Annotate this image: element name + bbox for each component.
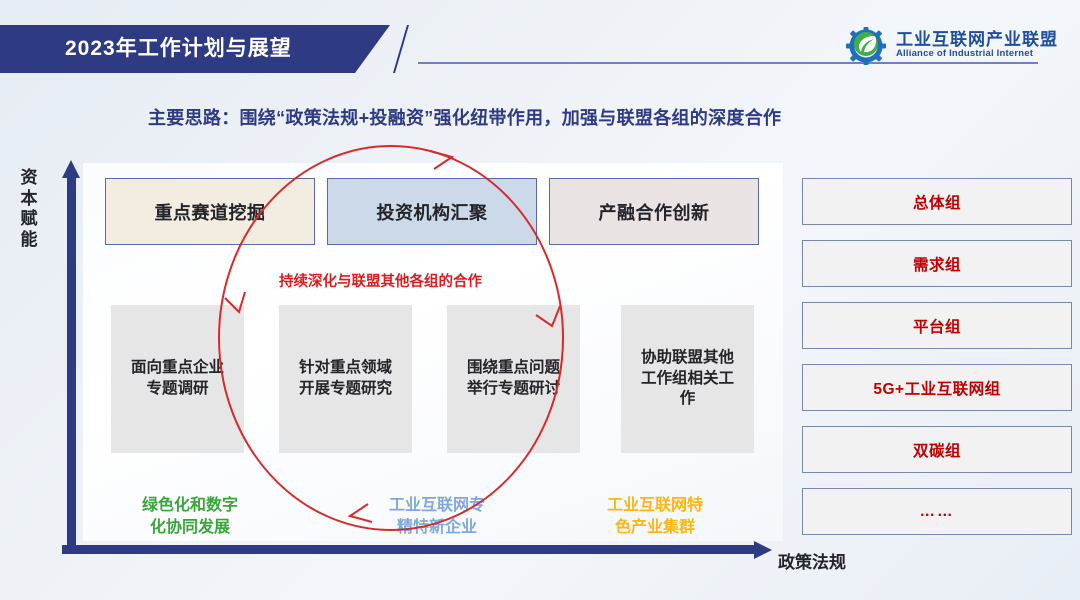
bottom-label-1-line2: 化协同发展	[110, 517, 270, 539]
bottom-label-2-line2: 精特新企业	[357, 517, 517, 539]
work-group-list: 总体组 需求组 平台组 5G+工业互联网组 双碳组 ……	[802, 178, 1070, 540]
y-axis-shaft	[67, 174, 76, 550]
work-group-item-6[interactable]: ……	[802, 488, 1072, 535]
gray-box-3-line1: 围绕重点问题	[467, 358, 560, 379]
x-axis-shaft	[62, 545, 754, 554]
gray-box-1[interactable]: 面向重点企业 专题调研	[111, 305, 244, 453]
bottom-label-1: 绿色化和数字 化协同发展	[110, 495, 270, 538]
bottom-label-2-line1: 工业互联网专	[357, 495, 517, 517]
top-box-2[interactable]: 投资机构汇聚	[327, 178, 537, 245]
gray-box-3[interactable]: 围绕重点问题 举行专题研讨	[447, 305, 580, 453]
bottom-label-2: 工业互联网专 精特新企业	[357, 495, 517, 538]
logo-title-cn: 工业互联网产业联盟	[896, 31, 1058, 49]
bottom-label-1-line1: 绿色化和数字	[110, 495, 270, 517]
work-group-item-3[interactable]: 平台组	[802, 302, 1072, 349]
gray-box-2-line2: 开展专题研究	[299, 379, 392, 400]
gray-box-3-line2: 举行专题研讨	[467, 379, 560, 400]
work-group-item-1[interactable]: 总体组	[802, 178, 1072, 225]
bottom-label-3: 工业互联网特 色产业集群	[575, 495, 735, 538]
gray-box-2[interactable]: 针对重点领域 开展专题研究	[279, 305, 412, 453]
bottom-label-3-line1: 工业互联网特	[575, 495, 735, 517]
slide-root: 2023年工作计划与展望	[0, 0, 1080, 600]
work-group-item-5-label: 双碳组	[913, 439, 961, 461]
logo-text: 工业互联网产业联盟 Alliance of Industrial Interne…	[896, 31, 1058, 59]
work-group-item-3-label: 平台组	[913, 315, 961, 337]
header-slash-icon	[393, 25, 409, 73]
logo-title-en: Alliance of Industrial Internet	[896, 49, 1058, 59]
y-axis-label: 资本赋能	[16, 168, 42, 251]
work-group-item-4-label: 5G+工业互联网组	[873, 377, 1000, 399]
logo: 工业互联网产业联盟 Alliance of Industrial Interne…	[844, 22, 1058, 68]
top-box-1-label: 重点赛道挖掘	[155, 199, 266, 225]
top-box-1[interactable]: 重点赛道挖掘	[105, 178, 315, 245]
x-axis-arrow	[62, 541, 772, 559]
top-box-2-label: 投资机构汇聚	[377, 199, 488, 225]
top-box-3-label: 产融合作创新	[599, 199, 710, 225]
header-slash-decoration	[393, 25, 433, 73]
gray-box-1-line1: 面向重点企业	[131, 358, 224, 379]
gray-box-4[interactable]: 协助联盟其他 工作组相关工 作	[621, 305, 754, 453]
page-title: 2023年工作计划与展望	[65, 25, 292, 73]
gray-box-1-line2: 专题调研	[131, 379, 224, 400]
work-group-item-6-label: ……	[920, 503, 955, 521]
subtitle-text: 主要思路：围绕“政策法规+投融资”强化纽带作用，加强与联盟各组的深度合作	[148, 104, 781, 130]
x-axis-label: 政策法规	[778, 548, 846, 573]
x-axis-arrowhead-icon	[754, 541, 772, 559]
work-group-item-2[interactable]: 需求组	[802, 240, 1072, 287]
work-group-item-1-label: 总体组	[913, 191, 961, 213]
bottom-label-3-line2: 色产业集群	[575, 517, 735, 539]
top-box-3[interactable]: 产融合作创新	[549, 178, 759, 245]
gray-box-2-line1: 针对重点领域	[299, 358, 392, 379]
work-group-item-2-label: 需求组	[913, 253, 961, 275]
work-group-item-4[interactable]: 5G+工业互联网组	[802, 364, 1072, 411]
gray-box-4-line3: 作	[641, 389, 734, 410]
y-axis-arrow	[62, 160, 80, 550]
red-caption-text: 持续深化与联盟其他各组的合作	[279, 270, 482, 291]
gray-box-4-line1: 协助联盟其他	[641, 348, 734, 369]
gear-leaf-logo-icon	[844, 25, 888, 65]
work-group-item-5[interactable]: 双碳组	[802, 426, 1072, 473]
gray-box-4-line2: 工作组相关工	[641, 369, 734, 390]
